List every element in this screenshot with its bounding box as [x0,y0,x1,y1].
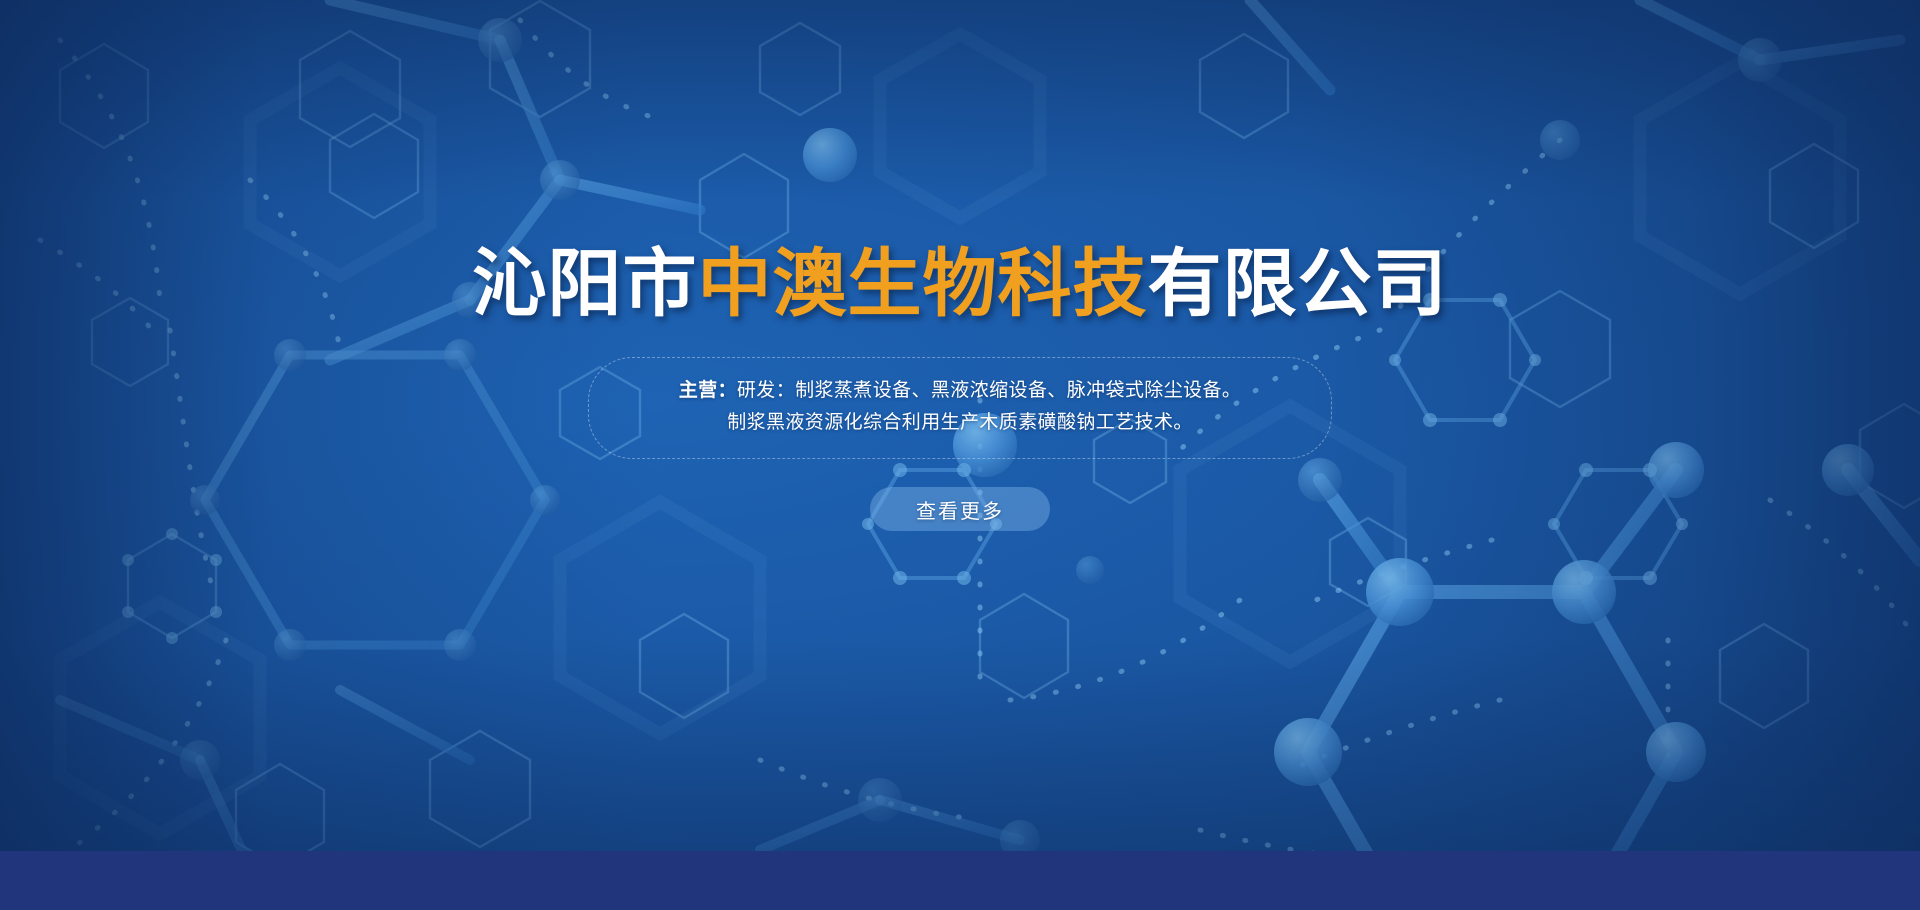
tagline-lead: 主营： [679,380,737,401]
view-more-button[interactable]: 查看更多 [870,487,1050,531]
tagline-line-1-rest: 研发：制浆蒸煮设备、黑液浓缩设备、脉冲袋式除尘设备。 [737,380,1241,401]
hero-banner: 沁阳市中澳生物科技有限公司 主营：研发：制浆蒸煮设备、黑液浓缩设备、脉冲袋式除尘… [0,0,1920,910]
page-title: 沁阳市中澳生物科技有限公司 [0,246,1920,321]
title-segment-highlight: 中澳生物科技 [698,242,1148,325]
tagline-line-1: 主营：研发：制浆蒸煮设备、黑液浓缩设备、脉冲袋式除尘设备。 [629,375,1291,407]
tagline-box: 主营：研发：制浆蒸煮设备、黑液浓缩设备、脉冲袋式除尘设备。 制浆黑液资源化综合利… [588,357,1332,459]
title-segment-suffix: 有限公司 [1148,242,1448,325]
title-segment-prefix: 沁阳市 [473,242,698,325]
tagline-line-2: 制浆黑液资源化综合利用生产木质素磺酸钠工艺技术。 [629,407,1291,439]
